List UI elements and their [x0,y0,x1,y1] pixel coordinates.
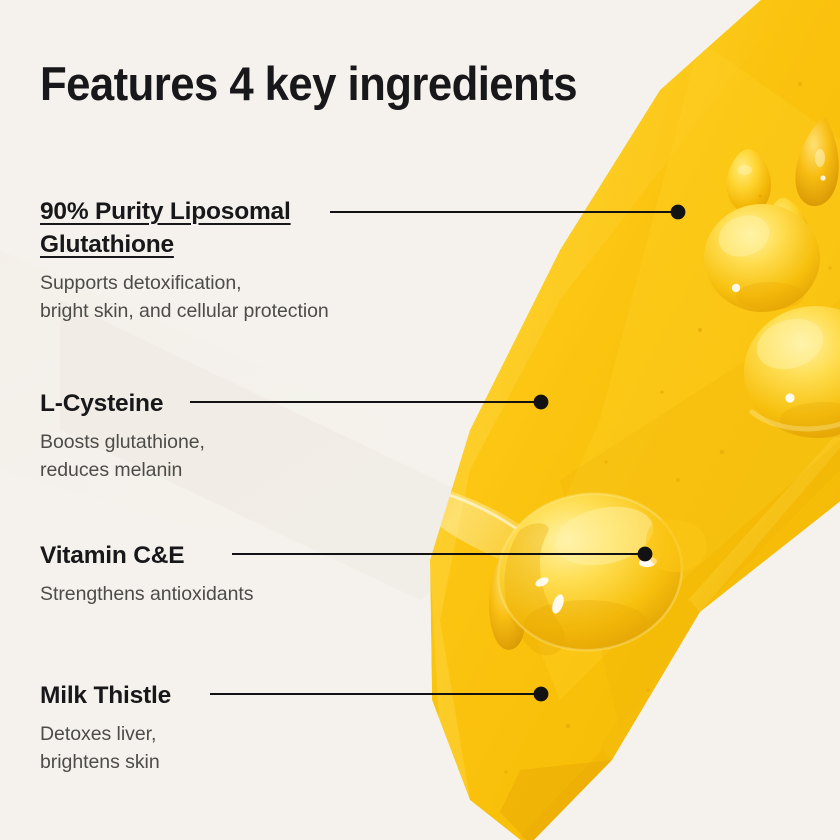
callout-line-3 [232,547,652,562]
ingredient-name: L-Cysteine [40,390,163,417]
ingredient-description: Boosts glutathione, reduces melanin [40,428,205,485]
ingredient-description: Strengthens antioxidants [40,580,253,608]
ingredient-name: Vitamin C&E [40,542,184,569]
callout-line-4 [210,687,548,702]
ingredient-name: Milk Thistle [40,682,171,709]
ingredient-name-line-1: 90% Purity Liposomal [40,198,291,225]
callout-line-2 [190,395,548,410]
ingredient-block-vitamin-c-and-e: Vitamin C&E Strengthens antioxidants [40,540,253,608]
ingredient-block-milk-thistle: Milk Thistle Detoxes liver, brightens sk… [40,680,171,776]
ingredient-name-wrap: Milk Thistle [40,680,171,713]
ingredient-description: Supports detoxification, bright skin, an… [40,269,329,326]
ingredient-description: Detoxes liver, brightens skin [40,720,171,777]
callout-line-1 [330,205,685,220]
ingredient-name-wrap: Vitamin C&E [40,540,253,573]
ingredient-name-wrap: L-Cysteine [40,388,205,421]
ingredient-block-liposomal-glutathione: 90% Purity Liposomal Glutathione Support… [40,196,329,325]
infographic-canvas: Features 4 key ingredients 90% Pur [0,0,840,840]
ingredient-name-line-2: Glutathione [40,231,174,258]
ingredient-block-l-cysteine: L-Cysteine Boosts glutathione, reduces m… [40,388,205,484]
ingredient-name-wrap: 90% Purity Liposomal Glutathione [40,196,329,262]
